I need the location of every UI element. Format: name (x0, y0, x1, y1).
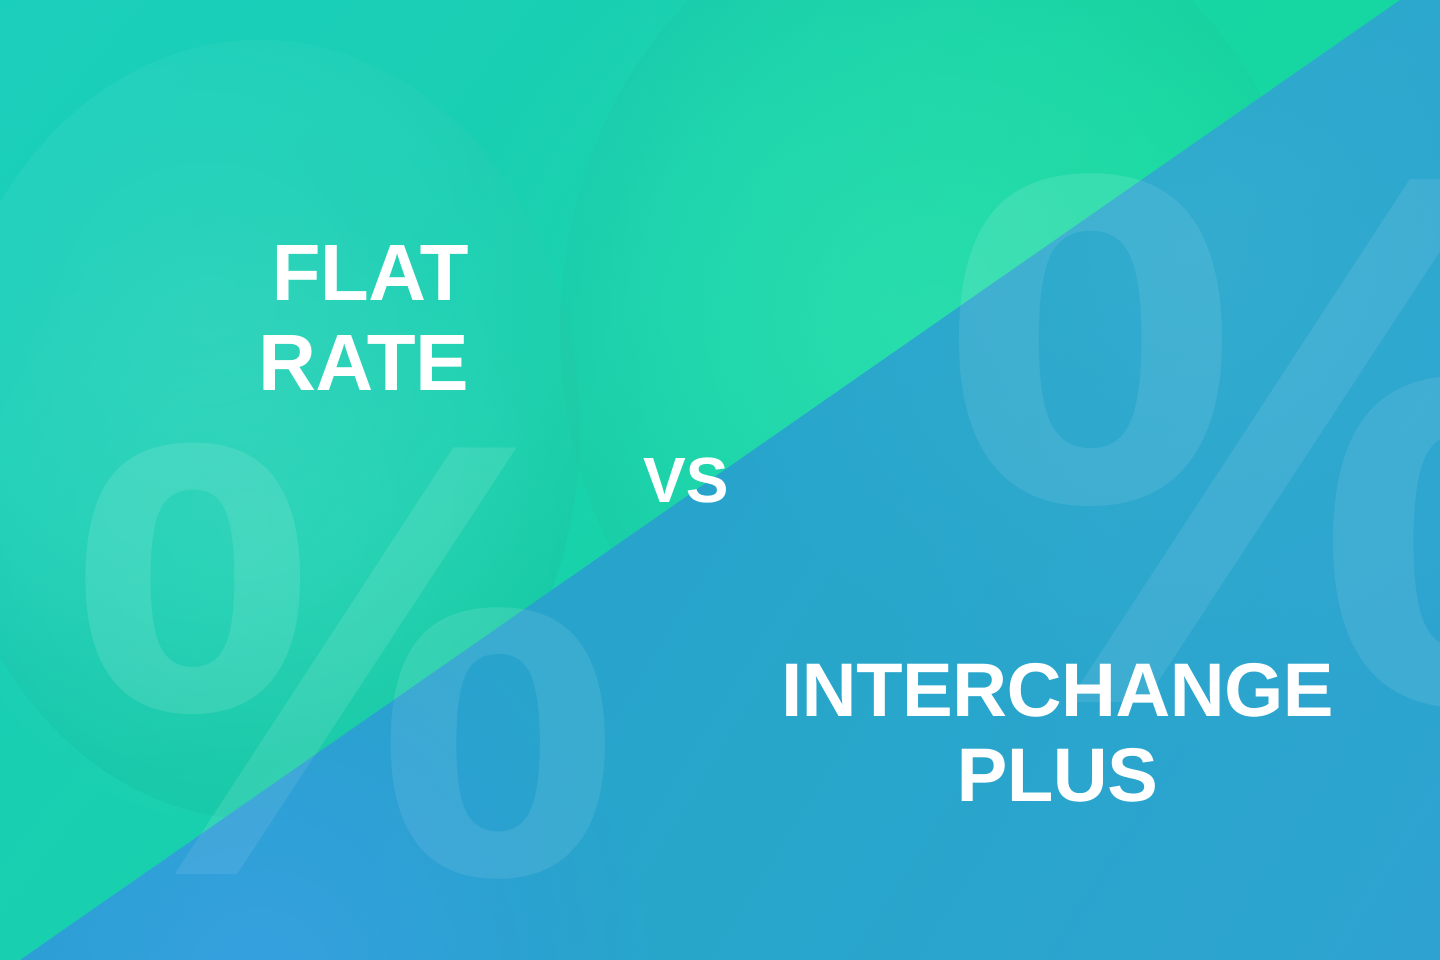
versus-label: VS (643, 445, 728, 517)
right-panel-title-line2: PLUS (751, 733, 1363, 818)
comparison-banner: % % % % FLAT RATE VS INTERCHANGE PLUS (0, 0, 1440, 960)
right-panel-title: INTERCHANGE PLUS (751, 648, 1363, 818)
left-panel-title-line1: FLAT (272, 228, 468, 317)
left-panel-title-line2: RATE (258, 318, 468, 408)
left-panel-title: FLAT RATE (258, 228, 468, 407)
right-panel-title-line1: INTERCHANGE (781, 648, 1333, 733)
